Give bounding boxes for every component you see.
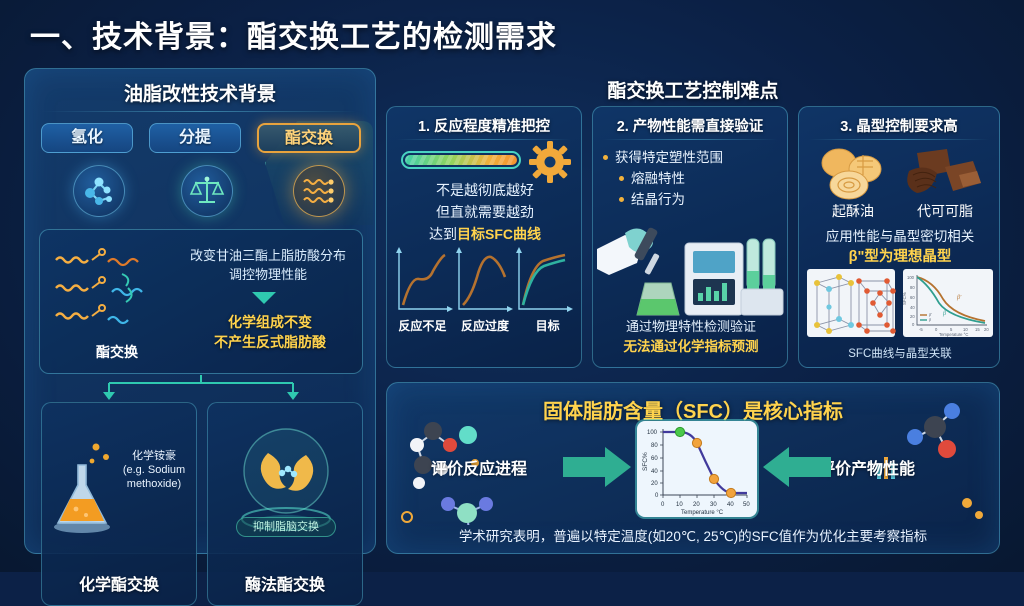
gear-icon [529, 141, 571, 183]
svg-text:Temperature °C: Temperature °C [681, 510, 724, 516]
svg-text:30: 30 [710, 502, 717, 508]
svg-text:40: 40 [651, 469, 658, 475]
difficulty-card-2-title: 2. 产物性能需直接验证 [593, 115, 787, 136]
bottom-panel-footnote: 学术研究表明，普遍以特定温度(如20℃, 25℃)的SFC值作为优化主要考察指标 [387, 525, 999, 545]
bullet-plasticity: 获得特定塑性范围 [603, 147, 779, 168]
slide-root: 一、技术背景：酯交换工艺的检测需求 油脂改性技术背景 氢化 分提 酯交换 [0, 0, 1024, 572]
balance-scale-icon [181, 165, 233, 217]
mini-chart-label-over: 反应过度 [454, 317, 517, 334]
svg-text:50: 50 [743, 502, 750, 508]
interesterification-art-label: 酯交换 [62, 342, 172, 362]
svg-text:0: 0 [661, 502, 665, 508]
evaluate-reaction-progress-label: 评价反应进程 [431, 455, 527, 479]
reagent-line-2: (e.g. Sodium [114, 463, 194, 477]
svg-text:β: β [928, 317, 931, 322]
card3-caption: SFC曲线与晶型关联 [803, 345, 997, 361]
svg-text:10: 10 [676, 502, 683, 508]
divider [603, 139, 777, 140]
reaction-progress-bar [401, 151, 521, 169]
difficulty-card-1-text: 不是越彻底越好 但直就需要越劲 达到目标SFC曲线 [395, 179, 575, 245]
divider [809, 139, 989, 140]
enzymatic-interesterification-card: 抑制脂脑交换 酶法酯交换 [207, 402, 363, 606]
left-panel-heading: 油脂改性技术背景 [25, 79, 375, 106]
reagent-line-3: methoxide) [114, 477, 194, 491]
mini-chart-label-target: 目标 [516, 317, 579, 334]
modification-tabs: 氢化 分提 酯交换 [39, 123, 363, 157]
bottom-panel-title: 固体脂肪含量（SFC）是核心指标 [387, 395, 999, 424]
highlight-line-2: 不产生反式脂肪酸 [180, 332, 360, 352]
tab-interesterification[interactable]: 酯交换 [257, 123, 361, 153]
card1-line-3-prefix: 达到 [429, 226, 457, 242]
svg-text:20: 20 [910, 314, 915, 319]
food-examples-illustration [809, 145, 991, 201]
svg-text:80: 80 [651, 443, 658, 449]
cocoa-butter-chocolate-icon [907, 149, 981, 193]
svg-text:β': β' [956, 295, 962, 301]
card1-line-3-strong: 目标SFC曲线 [457, 226, 541, 242]
chemical-reagent-note: 化学铵豪 (e.g. Sodium methoxide) [114, 449, 194, 491]
left-panel: 油脂改性技术背景 氢化 分提 酯交换 [24, 68, 376, 554]
card1-line-1: 不是越彻底越好 [395, 179, 575, 201]
svg-text:60: 60 [651, 456, 658, 462]
highlight-line-1: 化学组成不变 [180, 312, 360, 332]
interesterification-explain-card: 酯交换 改变甘油三酯上脂肪酸分布 调控物理性能 化学组成不变 不产生反式脂肪酸 [39, 229, 363, 374]
lab-analysis-illustration [597, 213, 785, 323]
reaction-degree-mini-charts [393, 247, 577, 319]
interesterification-diagram [52, 244, 182, 336]
card2-foot-strong: 无法通过化学指标预测 [599, 337, 783, 357]
card3-line: 应用性能与晶型密切相关 [803, 225, 997, 245]
arrow-right-icon [563, 447, 633, 487]
crystal-and-sfc-images: 1008060 40200 -505 101520 Temperature °C… [807, 269, 993, 337]
svg-text:40: 40 [910, 305, 915, 310]
enzyme-pill-label: 抑制脂脑交换 [236, 517, 336, 537]
enzymatic-card-caption: 酶法酯交换 [208, 571, 362, 595]
card1-line-2: 但直就需要越劲 [395, 201, 575, 223]
reaction-degree-labels: 反应不足 反应过度 目标 [391, 317, 579, 334]
mini-chart-label-under: 反应不足 [391, 317, 454, 334]
svg-text:80: 80 [910, 285, 915, 290]
right-panel-heading: 酯交换工艺控制难点 [386, 76, 1000, 103]
interesterification-highlight: 化学组成不变 不产生反式脂肪酸 [180, 312, 360, 352]
food-label-shortening: 起酥油 [807, 201, 899, 221]
svg-text:0: 0 [655, 493, 659, 499]
difficulty-card-3-title: 3. 晶型控制要求高 [799, 115, 999, 136]
svg-text:100: 100 [907, 275, 915, 280]
description-line-1: 改变甘油三酯上脂肪酸分布 [180, 246, 356, 265]
svg-text:20: 20 [651, 481, 658, 487]
reagent-line-1: 化学铵豪 [114, 449, 194, 463]
chemical-interesterification-card: 化学铵豪 (e.g. Sodium methoxide) 化学酯交换 [41, 402, 197, 606]
card3-strong: β"型为理想晶型 [803, 245, 997, 266]
branch-connector [39, 375, 363, 401]
product-property-bullets: 获得特定塑性范围 熔融特性 结晶行为 [603, 147, 779, 210]
card2-foot-normal: 通过物理特性检测验证 [599, 317, 783, 337]
svg-text:β: β [942, 311, 946, 317]
divider [397, 139, 571, 140]
difficulty-card-1-title: 1. 反应程度精准把控 [387, 115, 581, 136]
card1-line-3: 达到目标SFC曲线 [395, 223, 575, 245]
food-label-cocoa-butter: 代可可脂 [899, 201, 991, 221]
molecule-icon [73, 165, 125, 217]
bottom-panel: 固体脂肪含量（SFC）是核心指标 [386, 382, 1000, 554]
chemical-card-caption: 化学酯交换 [42, 571, 196, 595]
description-line-2: 调控物理性能 [180, 265, 356, 284]
tab-hydrogenation[interactable]: 氢化 [41, 123, 133, 153]
bullet-melting: 熔融特性 [619, 168, 779, 189]
svg-text:100: 100 [647, 430, 658, 436]
bullet-crystallization: 结晶行为 [619, 189, 779, 210]
svg-text:40: 40 [727, 502, 734, 508]
difficulty-card-2: 2. 产物性能需直接验证 获得特定塑性范围 熔融特性 结晶行为 通过物理特性 [592, 106, 788, 368]
svg-text:20: 20 [984, 327, 989, 332]
down-arrow-icon [252, 292, 276, 304]
svg-text:SFC%: SFC% [642, 452, 649, 471]
interesterification-description: 改变甘油三酯上脂肪酸分布 调控物理性能 [180, 246, 356, 284]
page-title: 一、技术背景：酯交换工艺的检测需求 [30, 12, 557, 56]
shortening-cookies-icon [822, 149, 881, 199]
tab-fractionation[interactable]: 分提 [149, 123, 241, 153]
svg-text:20: 20 [693, 502, 700, 508]
svg-text:SFC%: SFC% [902, 292, 907, 305]
difficulty-card-1: 1. 反应程度精准把控 不是越彻底越好 [386, 106, 582, 368]
evaluate-product-performance-label: 评价产物性能 [819, 455, 915, 479]
progress-fill [405, 155, 517, 165]
svg-text:60: 60 [910, 295, 915, 300]
svg-text:Temperature °C: Temperature °C [939, 332, 968, 337]
difficulty-card-2-footer: 通过物理特性检测验证 无法通过化学指标预测 [599, 317, 783, 357]
sfc-main-chart: 1008060 40200 01020 304050 Temperature °… [637, 421, 757, 517]
difficulty-card-3: 3. 晶型控制要求高 起酥油 [798, 106, 1000, 368]
triglyceride-icon [293, 165, 345, 217]
divider [43, 111, 357, 112]
svg-text:15: 15 [975, 327, 980, 332]
